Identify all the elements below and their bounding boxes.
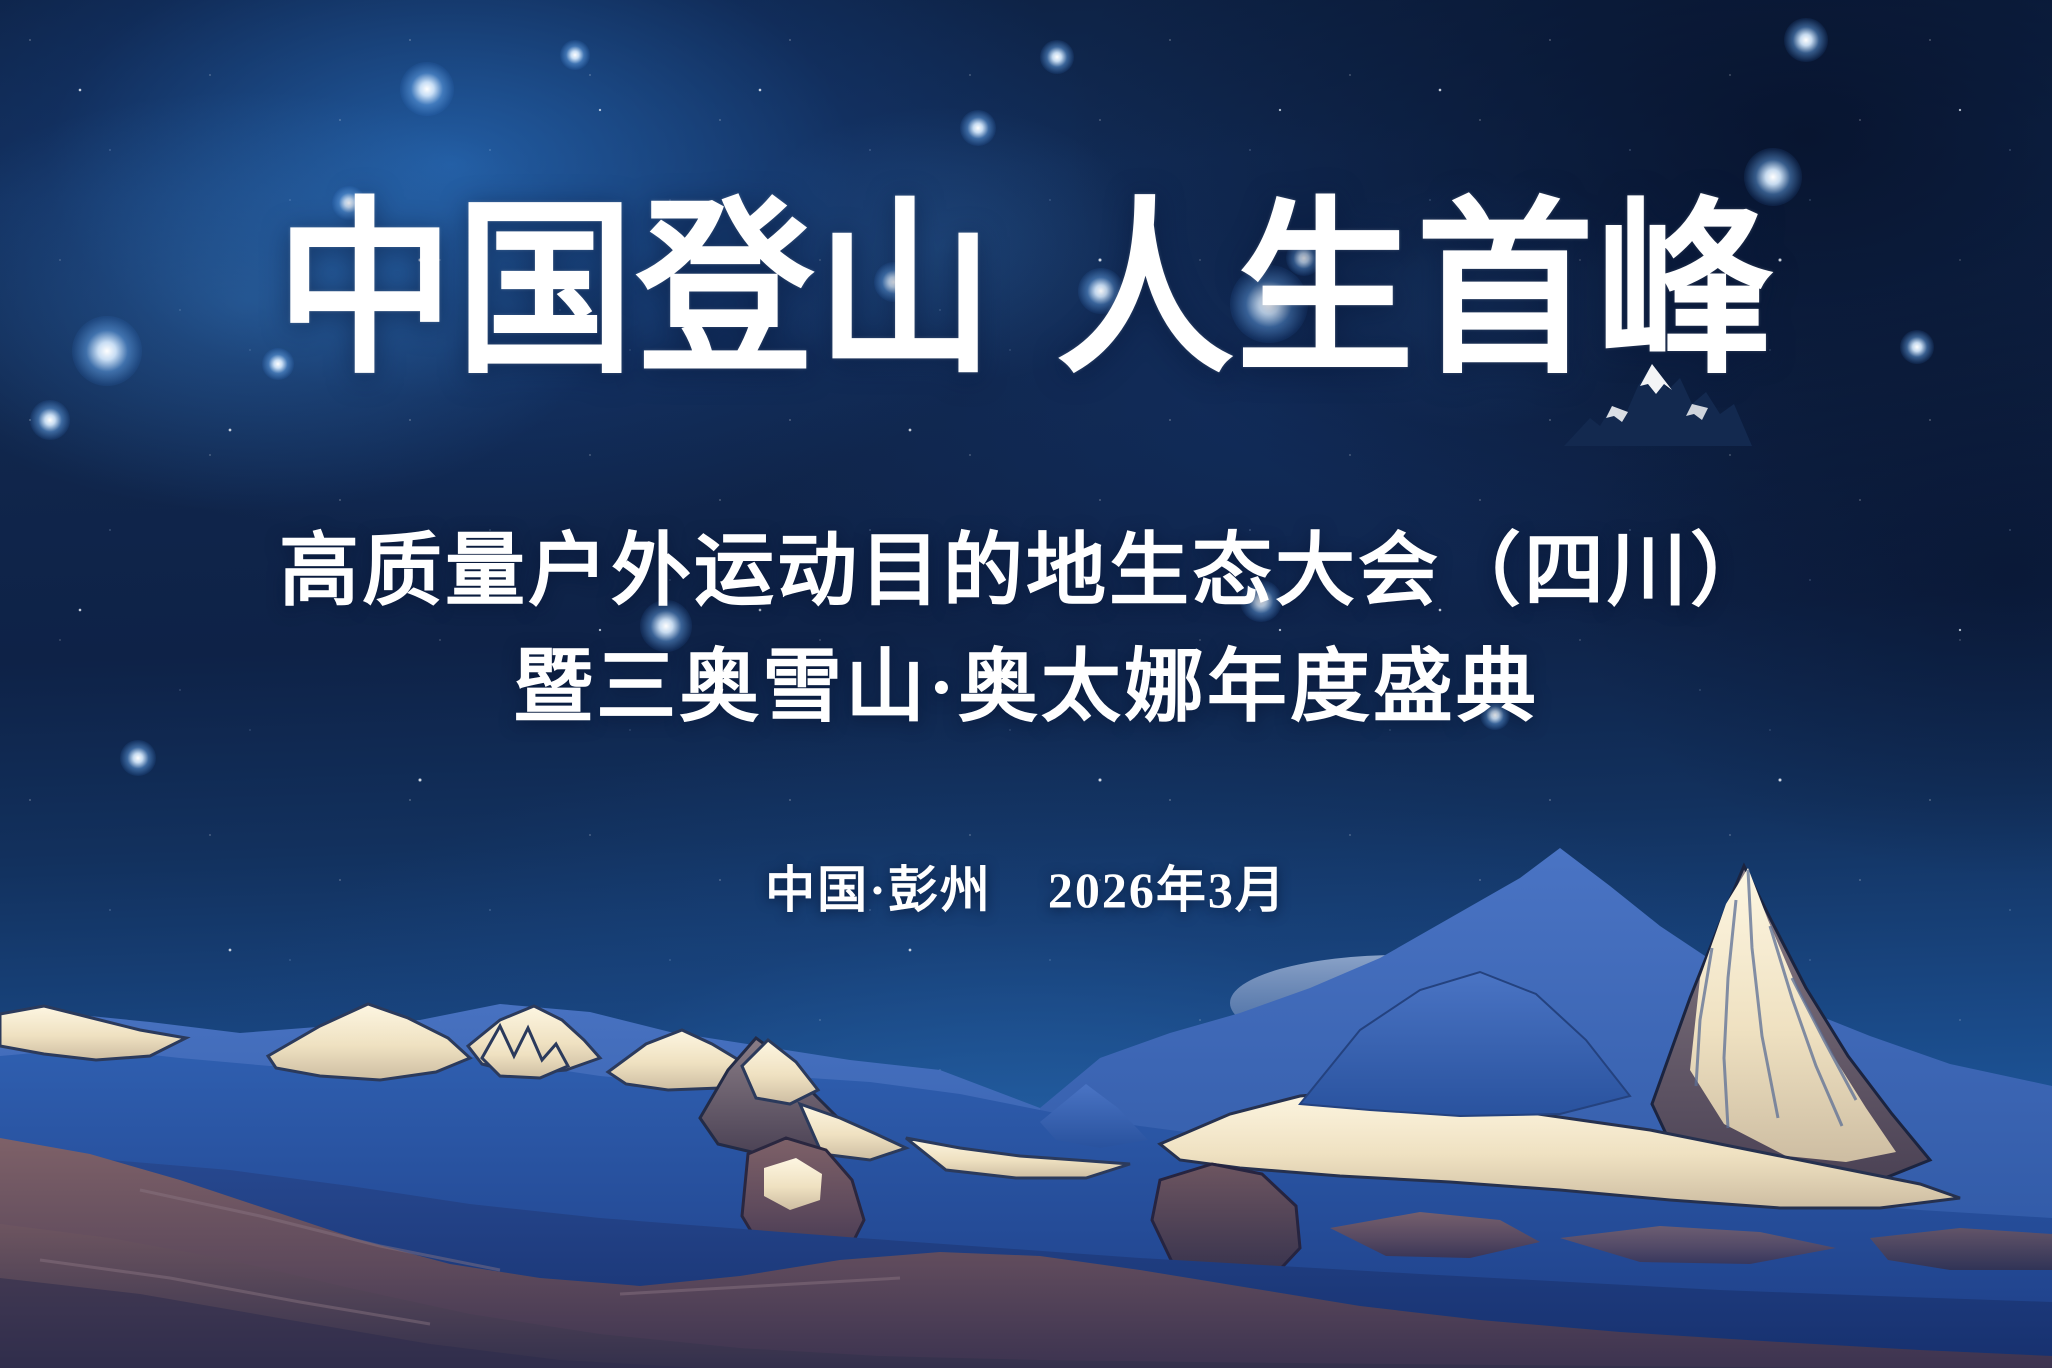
- event-location: 中国·彭州: [765, 862, 992, 918]
- event-poster: 中国登山人生首峰 高质量户外运动目的地生态大会（四川） 暨三奥雪山·奥太娜年度盛…: [0, 0, 2052, 1368]
- main-title-part1: 中国登山: [276, 184, 996, 395]
- poster-text-layer: 中国登山人生首峰 高质量户外运动目的地生态大会（四川） 暨三奥雪山·奥太娜年度盛…: [0, 0, 2052, 1368]
- main-title-part2: 人生首峰: [1056, 184, 1776, 395]
- subtitle-line-1: 高质量户外运动目的地生态大会（四川）: [0, 516, 2052, 630]
- subtitle-line-2: 暨三奥雪山·奥太娜年度盛典: [0, 632, 2052, 746]
- event-meta: 中国·彭州2026年3月: [0, 850, 2052, 922]
- event-date: 2026年3月: [1048, 862, 1287, 918]
- page-title: 中国登山人生首峰: [0, 196, 2052, 385]
